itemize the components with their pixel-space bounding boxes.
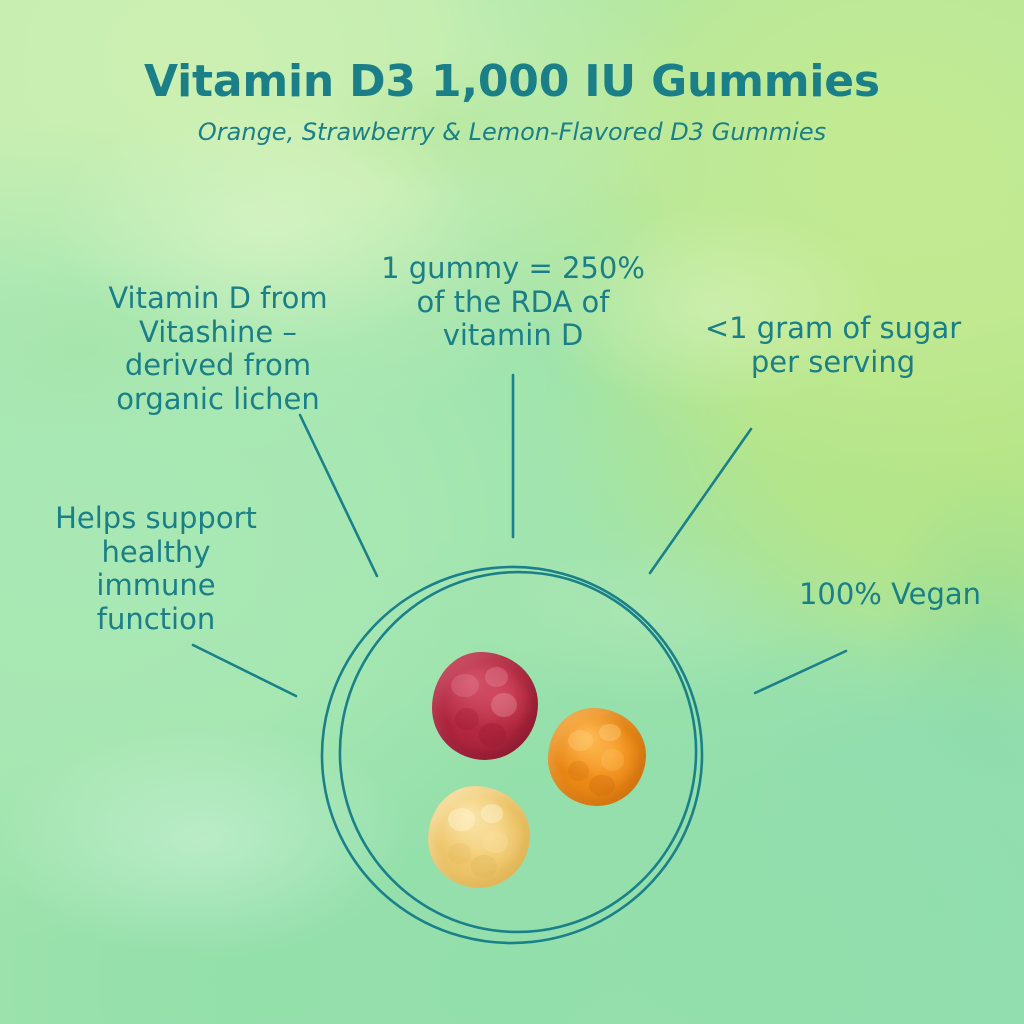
connector-line-sugar <box>650 429 751 573</box>
callout-immune-support: Helps support healthy immune function <box>30 502 282 637</box>
connector-line-immune <box>193 645 296 696</box>
hand-drawn-circle-outer <box>303 548 720 962</box>
product-infographic: Vitamin D3 1,000 IU Gummies Orange, Stra… <box>0 0 1024 1024</box>
connector-line-vegan <box>755 651 846 693</box>
hand-drawn-circle-inner <box>317 549 720 955</box>
callout-rda-percentage: 1 gummy = 250% of the RDA of vitamin D <box>363 252 663 353</box>
callout-vegan: 100% Vegan <box>780 578 1000 612</box>
gummy-strawberry <box>432 652 538 760</box>
connector-line-lichen <box>300 415 377 576</box>
gummy-orange <box>548 708 646 806</box>
callout-vitamin-d-source: Vitamin D from Vitashine – derived from … <box>78 282 358 417</box>
gummy-lemon <box>428 786 530 888</box>
callout-sugar-content: <1 gram of sugar per serving <box>678 312 988 379</box>
